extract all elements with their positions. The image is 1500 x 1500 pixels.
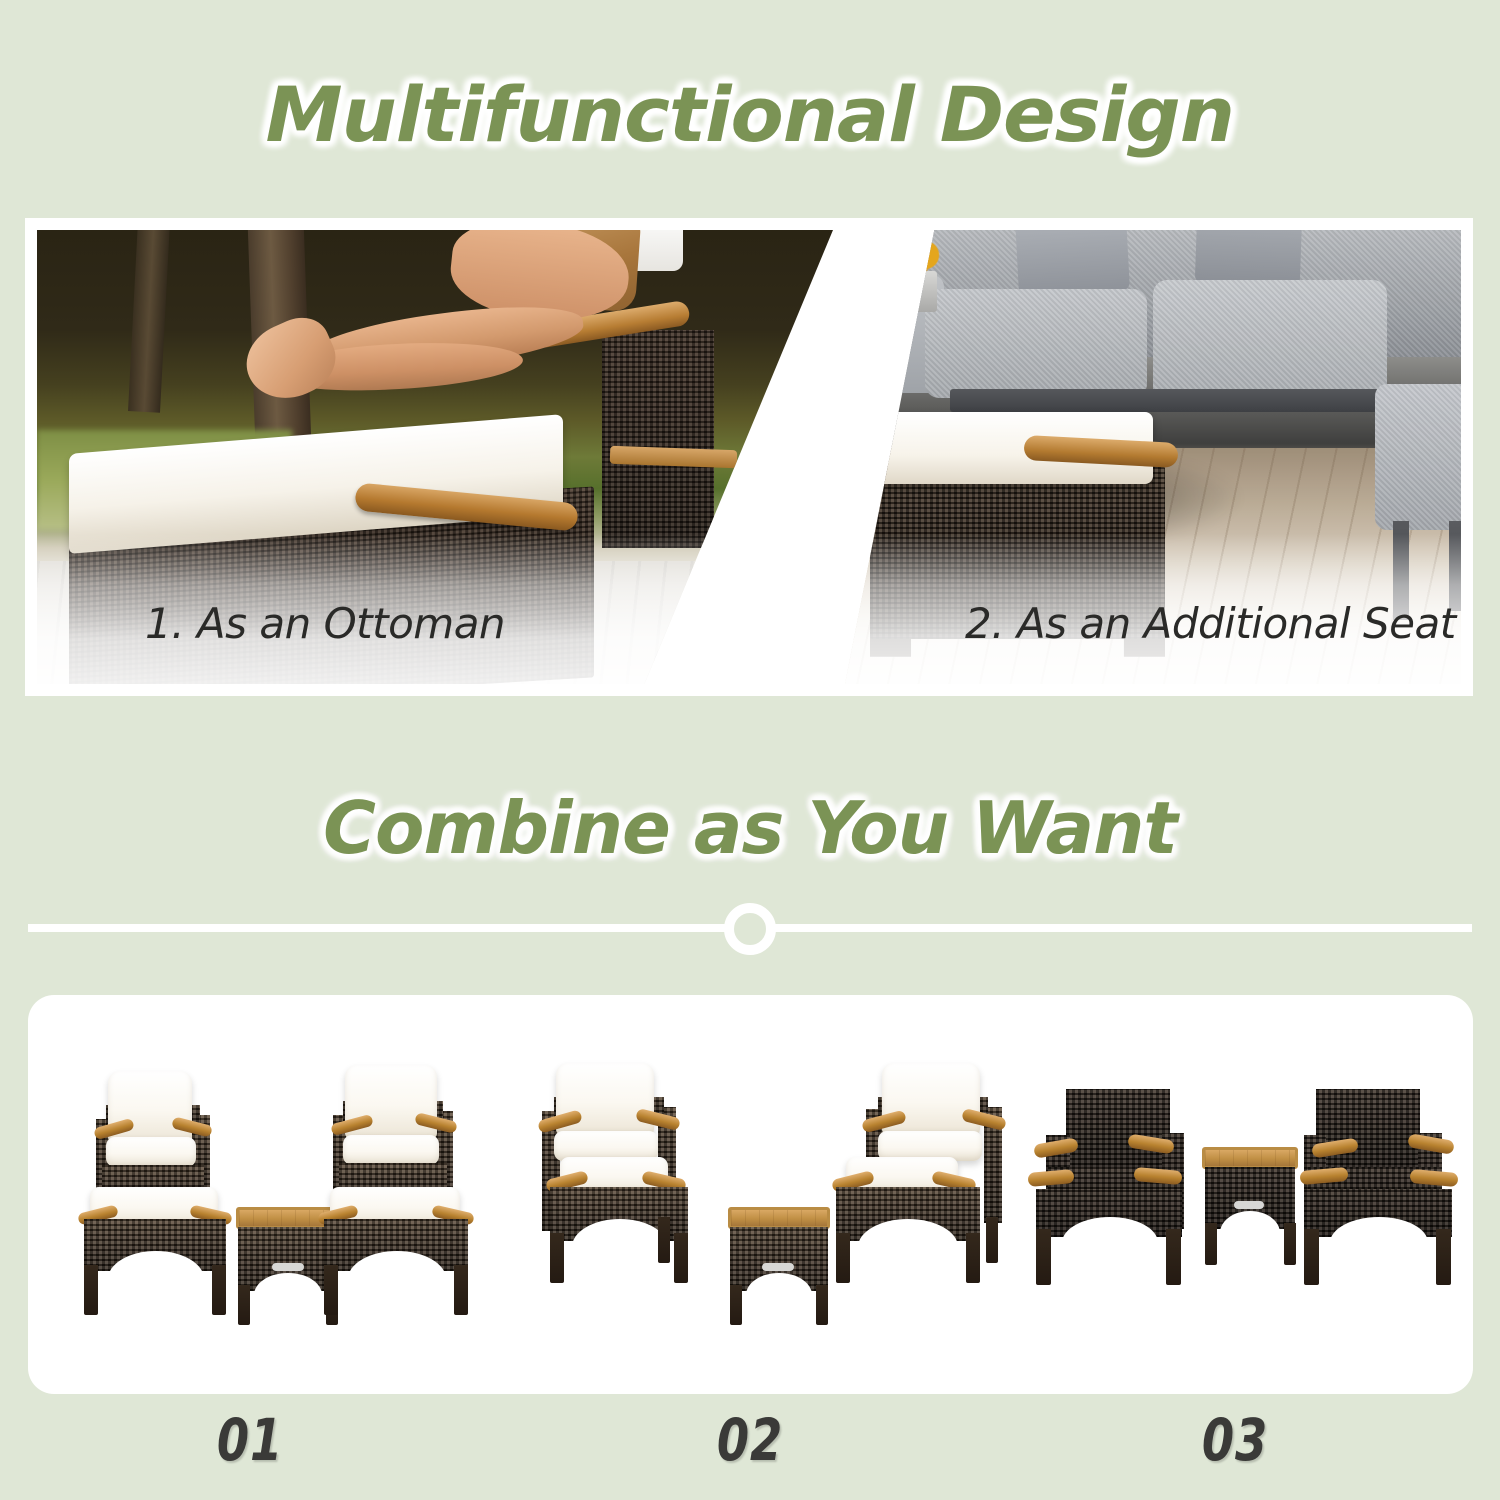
- sofa-seat-cushion-left: [925, 289, 1147, 398]
- flower-arrangement: [900, 235, 949, 276]
- armchair-bare-right: [1298, 1075, 1460, 1297]
- lounger-left: [538, 1061, 738, 1291]
- leg-front-1: [836, 1233, 850, 1283]
- throw-pillow-right: [1195, 230, 1302, 286]
- lounger-right: [806, 1061, 1010, 1291]
- section-title-text: Combine as You Want: [323, 786, 1177, 870]
- brand-plate: [272, 1263, 304, 1271]
- combination-number-03: 03: [1115, 1406, 1355, 1474]
- photo-ottoman-use: 1. As an Ottoman: [37, 230, 833, 684]
- chair-seat-cushion: [343, 1135, 439, 1165]
- product-feature-page: Multifunctional Design: [0, 0, 1500, 1500]
- ottoman-leg-2: [454, 1265, 468, 1315]
- chair-leg-1: [1036, 1229, 1051, 1285]
- ottoman-leg-1: [324, 1265, 338, 1315]
- ottoman-leg-2: [212, 1265, 226, 1315]
- section-title-combine-as-you-want: Combine as You Want: [0, 782, 1500, 874]
- table-leg-2: [816, 1285, 828, 1325]
- ottoman-left: [76, 1187, 236, 1327]
- sofa-seat-cushion-right: [1153, 280, 1387, 403]
- combination-group-03: [1028, 1047, 1458, 1347]
- photo-card-ottoman: 1. As an Ottoman: [37, 230, 833, 684]
- combination-group-02: [538, 1047, 1004, 1347]
- table-leg-1: [238, 1285, 250, 1325]
- circle-node-icon: [724, 903, 776, 955]
- leg-rear-1: [658, 1217, 670, 1263]
- throw-pillow-left: [1016, 230, 1131, 296]
- photo-caption-2: 2. As an Additional Seat: [965, 599, 1456, 648]
- page-title-text: Multifunctional Design: [266, 68, 1234, 162]
- photo-card-additional-seat: 2. As an Additional Seat: [845, 230, 1461, 684]
- leg-rear-1: [986, 1217, 998, 1263]
- leg-front-2: [966, 1233, 980, 1283]
- table-leg-1: [730, 1285, 742, 1325]
- table-leg-2: [1284, 1223, 1296, 1265]
- sofa-leg-right: [1449, 521, 1461, 612]
- vase: [907, 271, 938, 312]
- chair-leg-1: [1304, 1229, 1319, 1285]
- sofa-side-section: [1375, 384, 1461, 529]
- chair-backrest: [1066, 1089, 1170, 1175]
- brand-plate: [1234, 1201, 1264, 1209]
- side-table-center: [1200, 1147, 1300, 1269]
- photo-band: 1. As an Ottoman: [25, 218, 1473, 696]
- person-legs-group: [228, 239, 674, 502]
- chair-seat-cushion: [106, 1137, 196, 1167]
- combination-group-01: [64, 1047, 520, 1347]
- page-title-multifunctional-design: Multifunctional Design: [0, 68, 1500, 162]
- leg-front-2: [674, 1233, 688, 1283]
- ottoman-leg-1: [84, 1265, 98, 1315]
- photo-additional-seat-use: 2. As an Additional Seat: [845, 230, 1461, 684]
- combinations-card: [28, 995, 1473, 1394]
- photo-caption-1: 1. As an Ottoman: [145, 599, 505, 648]
- chair-leg-2: [1166, 1229, 1181, 1285]
- table-leg-1: [1205, 1223, 1217, 1265]
- ottoman-right: [314, 1187, 478, 1327]
- chair-leg-2: [1436, 1229, 1451, 1285]
- combination-number-01: 01: [130, 1406, 370, 1474]
- person-foot: [235, 308, 346, 412]
- combination-number-02: 02: [630, 1406, 870, 1474]
- chair-backrest: [1316, 1089, 1420, 1175]
- armchair-bare-left: [1028, 1075, 1188, 1297]
- table-wood-top: [1202, 1147, 1298, 1169]
- leg-front-1: [550, 1233, 564, 1283]
- brand-plate: [762, 1263, 794, 1271]
